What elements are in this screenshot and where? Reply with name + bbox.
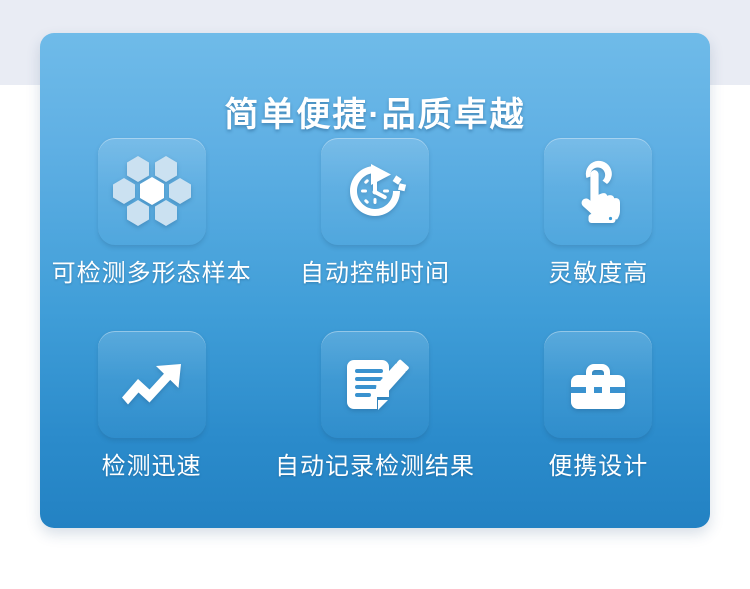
feature-item[interactable]: 自动记录检测结果 (263, 331, 486, 524)
feature-item[interactable]: 可检测多形态样本 (40, 138, 263, 331)
feature-item[interactable]: 便携设计 (487, 331, 710, 524)
feature-label: 可检测多形态样本 (52, 259, 252, 289)
feature-label: 检测迅速 (102, 452, 202, 482)
feature-item[interactable]: 灵敏度高 (487, 138, 710, 331)
hexagon-cluster-icon (112, 152, 192, 232)
feature-icon-tile[interactable] (98, 331, 206, 439)
feature-item[interactable]: 自动控制时间 (263, 138, 486, 331)
touch-hand-icon (558, 152, 638, 232)
toolbox-icon (558, 345, 638, 425)
trend-up-arrow-icon (112, 345, 192, 425)
feature-label: 自动记录检测结果 (275, 452, 475, 482)
clock-arrow-icon (335, 152, 415, 232)
feature-icon-tile[interactable] (321, 331, 429, 439)
feature-icon-tile[interactable] (544, 331, 652, 439)
feature-label: 自动控制时间 (300, 259, 450, 289)
feature-label: 便携设计 (548, 452, 648, 482)
feature-item[interactable]: 检测迅速 (40, 331, 263, 524)
feature-label: 灵敏度高 (548, 259, 648, 289)
document-pencil-icon (335, 345, 415, 425)
feature-panel: 简单便捷·品质卓越 (40, 33, 710, 528)
feature-icon-tile[interactable] (544, 138, 652, 246)
panel-title: 简单便捷·品质卓越 (40, 87, 710, 136)
feature-grid: 可检测多形态样本 (40, 138, 710, 524)
feature-icon-tile[interactable] (98, 138, 206, 246)
feature-icon-tile[interactable] (321, 138, 429, 246)
